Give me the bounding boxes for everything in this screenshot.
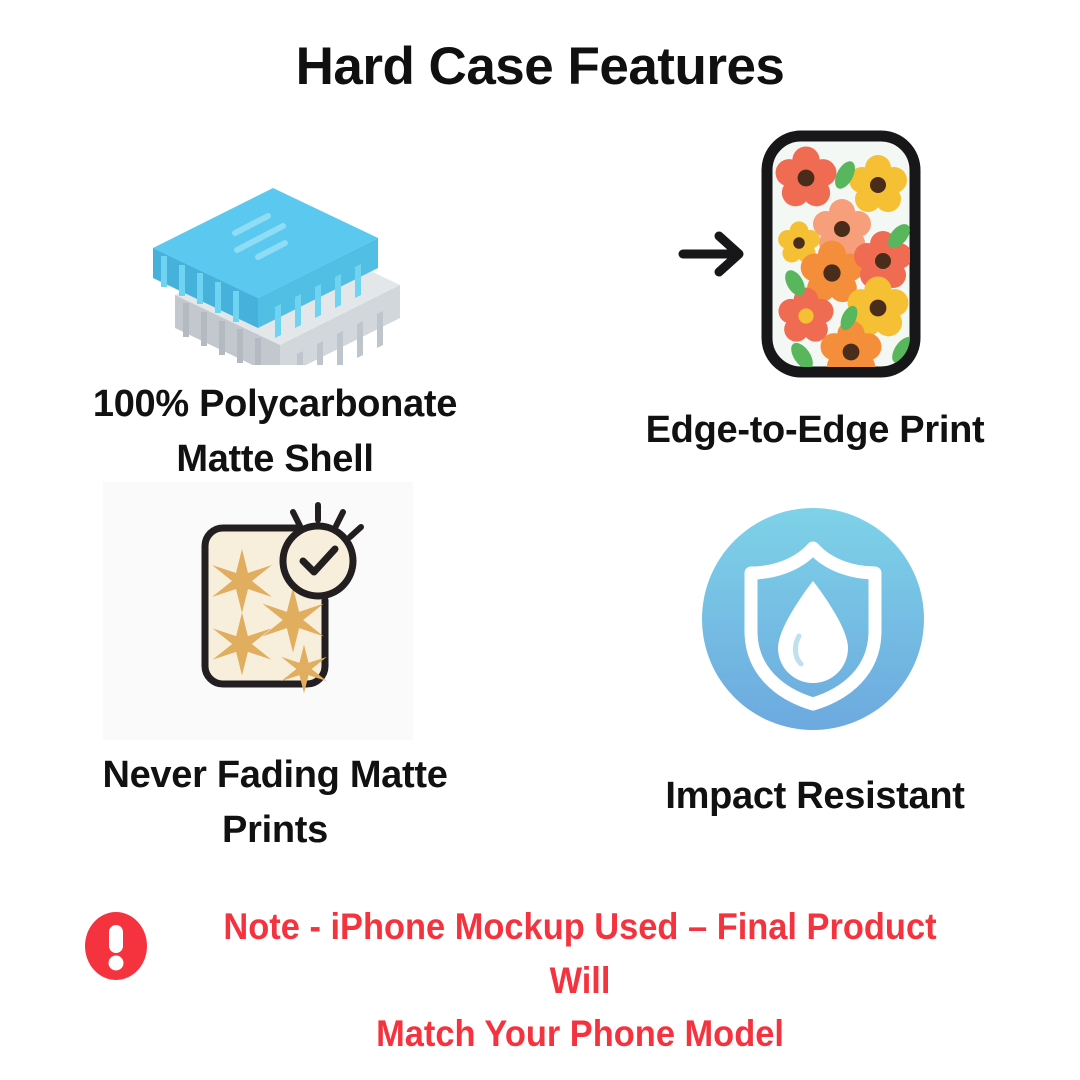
caption-line-1: Impact Resistant: [560, 769, 1070, 824]
icon-container-edge-to-edge: [560, 128, 1070, 383]
feature-card-impact-resistant: Impact Resistant: [560, 505, 1070, 824]
note-line-2: Match Your Phone Model: [194, 1007, 966, 1061]
sparkle-card-check-icon: [20, 478, 530, 740]
feature-caption-never-fading: Never Fading Matte Prints: [20, 748, 530, 858]
feature-card-polycarbonate: 100% Polycarbonate Matte Shell: [20, 160, 530, 487]
exclamation-circle-icon: [85, 910, 147, 982]
icon-container-impact-resistant: [560, 505, 1070, 743]
caption-line-2: Prints: [20, 803, 530, 858]
feature-caption-edge-to-edge: Edge-to-Edge Print: [560, 403, 1070, 458]
note-text: Note - iPhone Mockup Used – Final Produc…: [194, 900, 966, 1061]
floral-phone-case-icon: [560, 128, 1070, 380]
check-circle-icon: [283, 526, 353, 596]
note-banner: Note - iPhone Mockup Used – Final Produc…: [0, 900, 1080, 1061]
feature-caption-impact-resistant: Impact Resistant: [560, 769, 1070, 824]
feature-caption-polycarbonate: 100% Polycarbonate Matte Shell: [20, 377, 530, 487]
icon-container-polycarbonate: [20, 160, 530, 365]
feature-card-never-fading: Never Fading Matte Prints: [20, 478, 530, 858]
icon-container-never-fading: [20, 478, 530, 740]
caption-line-1: Never Fading Matte: [20, 748, 530, 803]
shield-droplet-icon: [560, 505, 1070, 737]
caption-line-1: 100% Polycarbonate: [20, 377, 530, 432]
arrow-right-icon: [683, 236, 739, 272]
page-title: Hard Case Features: [0, 36, 1080, 97]
caption-line-1: Edge-to-Edge Print: [560, 403, 1070, 458]
note-line-1: Note - iPhone Mockup Used – Final Produc…: [194, 900, 966, 1007]
feature-card-edge-to-edge: Edge-to-Edge Print: [560, 128, 1070, 458]
infographic-page: Hard Case Features: [0, 0, 1080, 1080]
layered-slabs-icon: [20, 160, 530, 365]
